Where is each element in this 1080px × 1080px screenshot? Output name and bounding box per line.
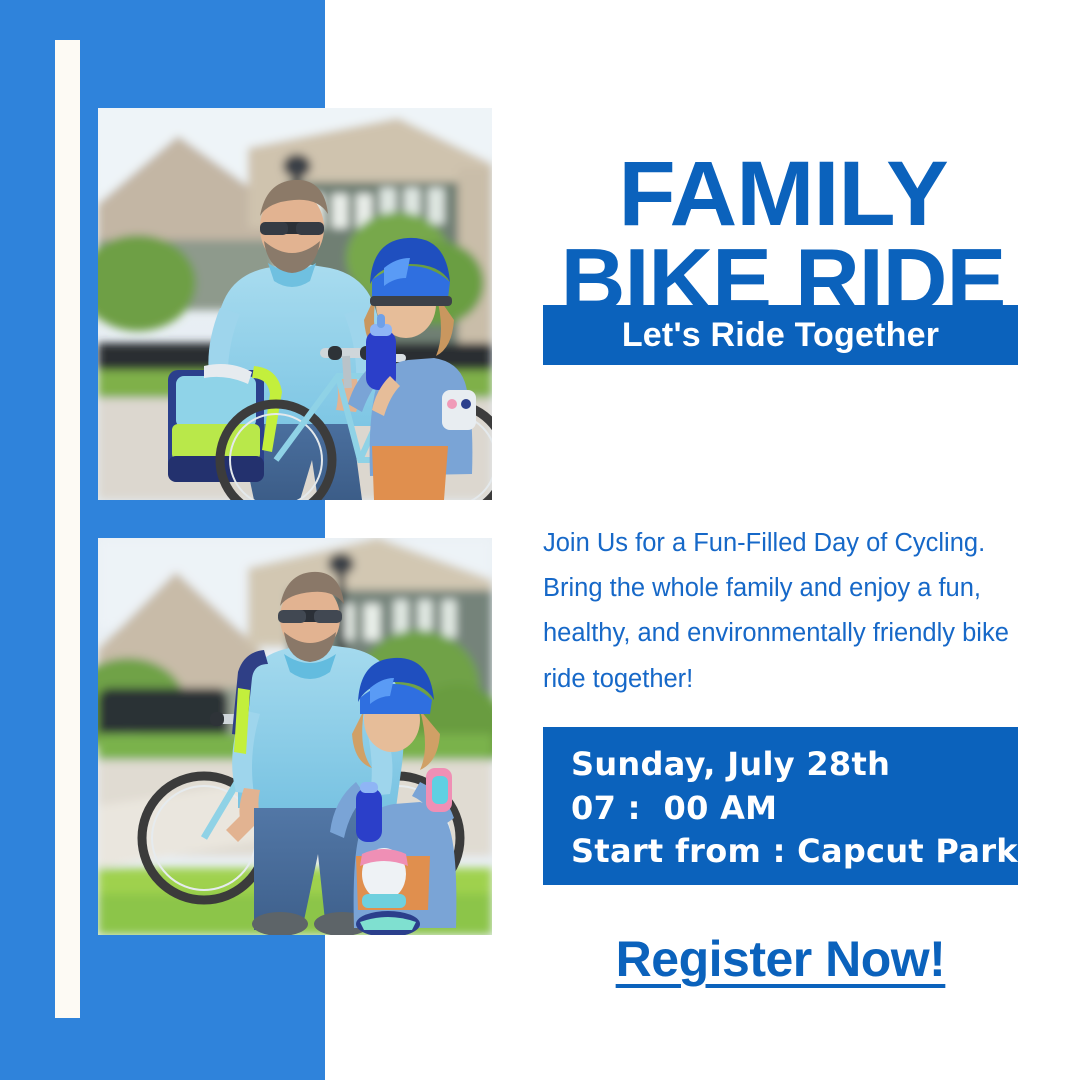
blue-panel-top: [0, 0, 325, 108]
photo-man-and-child-with-bike: [98, 108, 492, 500]
page-title: FAMILY BIKE RIDE: [538, 150, 1028, 323]
poster-canvas: FAMILY BIKE RIDE Let's Ride Together Joi…: [0, 0, 1080, 1080]
event-location: Start from : Capcut Park: [571, 830, 1018, 874]
cta-container: Register Now!: [543, 930, 1018, 988]
event-details-box: Sunday, July 28th 07 : 00 AM Start from …: [543, 727, 1018, 885]
body-paragraph: Join Us for a Fun-Filled Day of Cycling.…: [543, 521, 1013, 703]
blue-panel-bottom: [0, 935, 325, 1080]
photo-one-illustration: [98, 108, 492, 500]
headline-line-1: FAMILY: [538, 150, 1028, 238]
register-now-link[interactable]: Register Now!: [616, 931, 946, 987]
cream-vertical-stripe: [55, 40, 80, 1018]
photo-two-illustration: [98, 538, 492, 935]
event-date: Sunday, July 28th: [571, 743, 1018, 787]
blue-panel-middle-band: [108, 500, 325, 538]
event-time: 07 : 00 AM: [571, 787, 1018, 831]
subtitle-text: Let's Ride Together: [622, 316, 939, 355]
blue-panel-column: [0, 108, 108, 935]
photo-man-hugging-child: [98, 538, 492, 935]
subtitle-badge: Let's Ride Together: [543, 305, 1018, 365]
